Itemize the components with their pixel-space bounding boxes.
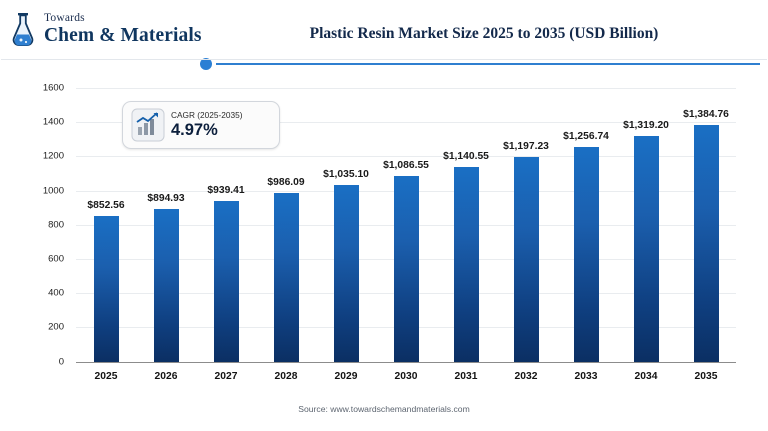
flask-icon [8,11,38,47]
y-axis-tick-label: 1400 [30,117,70,128]
cagr-value: 4.97% [171,121,242,140]
x-axis-tick-label: 2025 [76,371,136,382]
cagr-label: CAGR (2025-2035) [171,110,242,120]
y-axis-tick-label: 1600 [30,83,70,94]
brand-logo[interactable]: Towards Chem & Materials [8,11,202,47]
x-axis-tick-label: 2030 [376,371,436,382]
y-axis-tick-label: 800 [30,219,70,230]
bar-2035[interactable] [694,125,719,362]
bar-2031[interactable] [454,167,479,362]
x-axis-tick-label: 2029 [316,371,376,382]
bar-value-label: $852.56 [87,200,124,211]
brand-line-2: Chem & Materials [44,26,202,46]
bar-slot: $1,197.23 [496,88,556,362]
bar-value-label: $1,319.20 [623,120,669,131]
bar-slot: $1,256.74 [556,88,616,362]
x-axis-tick-label: 2028 [256,371,316,382]
bar-value-label: $1,384.76 [683,109,729,120]
x-axis-line [76,362,736,364]
y-axis-tick-label: 1000 [30,185,70,196]
bar-value-label: $939.41 [207,185,244,196]
x-axis-tick-label: 2027 [196,371,256,382]
chart-page: Towards Chem & Materials Plastic Resin M… [0,0,768,431]
bar-slot: $1,384.76 [676,88,736,362]
bar-slot: $1,035.10 [316,88,376,362]
y-axis-tick-label: 600 [30,253,70,264]
x-axis-tick-label: 2034 [616,371,676,382]
bar-value-label: $1,197.23 [503,141,549,152]
cagr-badge: CAGR (2025-2035) 4.97% [122,101,280,149]
x-axis-tick-label: 2032 [496,371,556,382]
bar-2034[interactable] [634,136,659,362]
bar-value-label: $1,086.55 [383,160,429,171]
bar-value-label: $1,256.74 [563,131,609,142]
y-axis-tick-label: 400 [30,288,70,299]
brand-line-1: Towards [44,13,202,25]
bar-value-label: $894.93 [147,193,184,204]
header-divider [0,59,768,60]
bar-2030[interactable] [394,176,419,362]
x-axis-tick-label: 2035 [676,371,736,382]
bar-slot: $1,086.55 [376,88,436,362]
bar-2025[interactable] [94,216,119,362]
y-axis-tick-label: 200 [30,322,70,333]
bar-2028[interactable] [274,193,299,362]
x-axis-tick-label: 2033 [556,371,616,382]
bar-slot: $1,140.55 [436,88,496,362]
x-axis-labels: 2025202620272028202920302031203220332034… [76,368,736,384]
bar-2032[interactable] [514,157,539,362]
bar-value-label: $986.09 [267,177,304,188]
bar-chart-growth-icon [131,108,165,142]
page-title: Plastic Resin Market Size 2025 to 2035 (… [210,25,758,43]
x-axis-tick-label: 2031 [436,371,496,382]
page-header: Towards Chem & Materials Plastic Resin M… [0,0,768,60]
bar-value-label: $1,140.55 [443,151,489,162]
source-note: Source: www.towardschemandmaterials.com [0,404,768,414]
bar-2027[interactable] [214,201,239,362]
y-axis-tick-label: 1200 [30,151,70,162]
x-axis-tick-label: 2026 [136,371,196,382]
bar-2033[interactable] [574,147,599,362]
y-axis-tick-label: 0 [30,356,70,367]
bar-slot: $1,319.20 [616,88,676,362]
bar-2026[interactable] [154,209,179,362]
underline-line [216,63,760,65]
bar-value-label: $1,035.10 [323,169,369,180]
bar-2029[interactable] [334,185,359,362]
